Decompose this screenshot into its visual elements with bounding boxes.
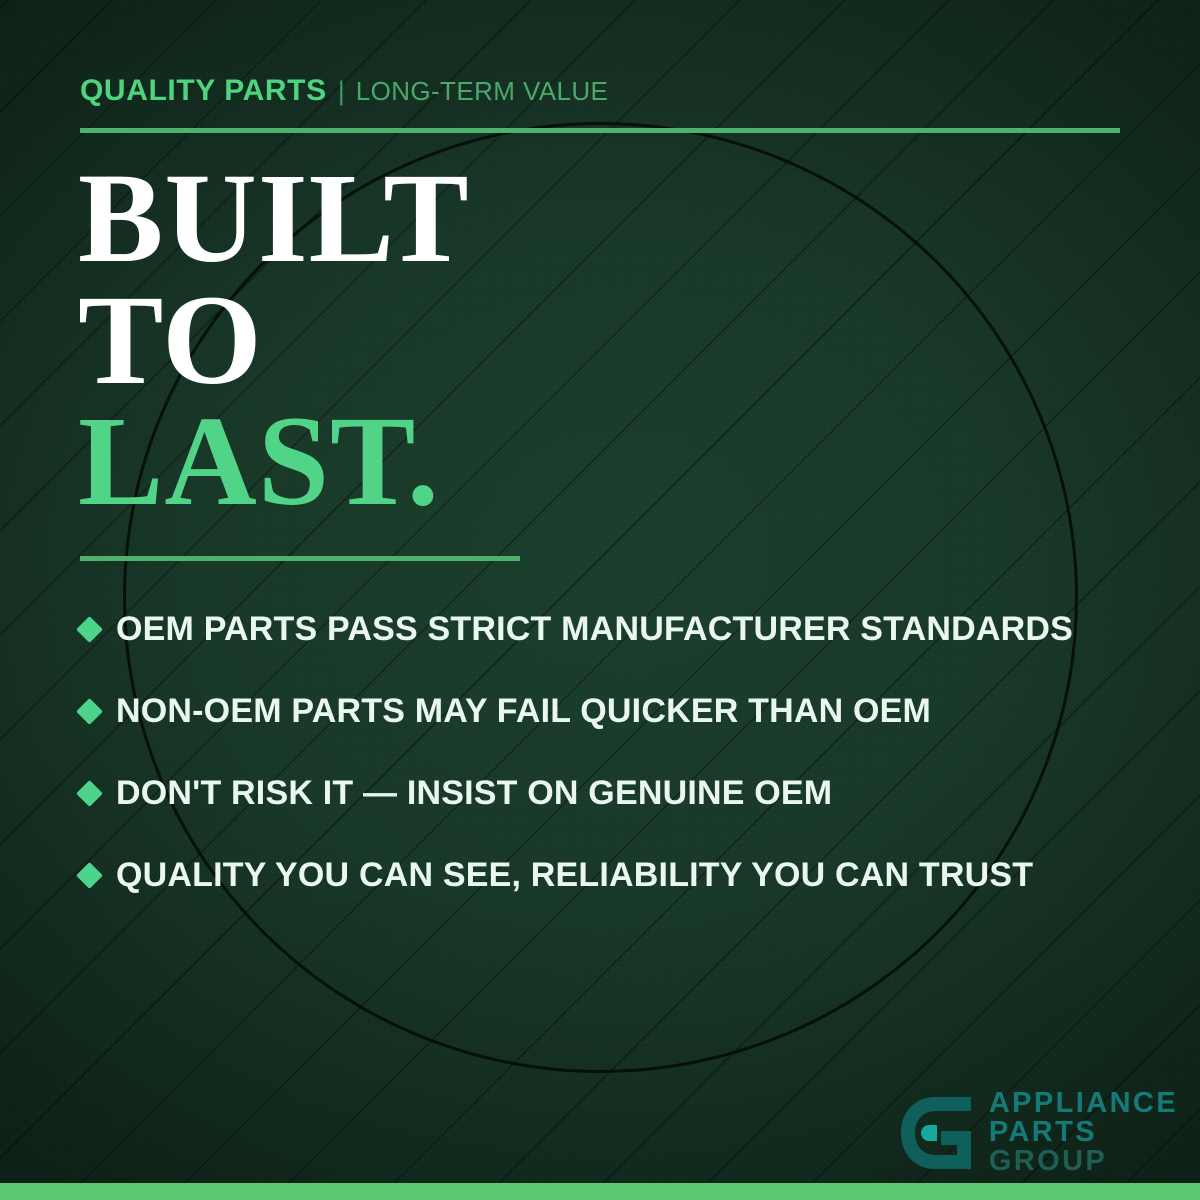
header-divider-rule [80,128,1120,133]
brand-logo-line-3: GROUP [989,1147,1178,1176]
eyebrow-sub-label: LONG-TERM VALUE [356,78,609,104]
brand-logo-wordmark: APPLIANCE PARTS GROUP [989,1089,1178,1176]
diamond-bullet-icon [76,862,103,889]
eyebrow-main-label: QUALITY PARTS [80,76,327,106]
list-item: NON-OEM PARTS MAY FAIL QUICKER THAN OEM [80,670,1140,752]
diamond-bullet-icon [76,698,103,725]
list-item-label: OEM PARTS PASS STRICT MANUFACTURER STAND… [116,612,1073,646]
poster-content: QUALITY PARTS | LONG-TERM VALUE BUILT TO… [0,0,1200,1200]
benefit-list: OEM PARTS PASS STRICT MANUFACTURER STAND… [80,588,1140,916]
headline-divider-rule [80,556,520,561]
list-item: DON'T RISK IT — INSIST ON GENUINE OEM [80,752,1140,834]
list-item-label: DON'T RISK IT — INSIST ON GENUINE OEM [116,776,832,810]
brand-logo: APPLIANCE PARTS GROUP [895,1089,1178,1176]
page-title: BUILT TO LAST. [78,158,470,523]
list-item-label: QUALITY YOU CAN SEE, RELIABILITY YOU CAN… [116,858,1033,892]
headline-line-2: TO [78,280,470,402]
appliance-parts-group-g-monogram-icon [895,1093,977,1173]
headline-line-3: LAST. [78,401,470,523]
eyebrow-separator: | [338,78,345,105]
headline-line-1: BUILT [78,158,470,280]
list-item: QUALITY YOU CAN SEE, RELIABILITY YOU CAN… [80,834,1140,916]
eyebrow-header: QUALITY PARTS | LONG-TERM VALUE [80,76,608,106]
diamond-bullet-icon [76,780,103,807]
poster-canvas: QUALITY PARTS | LONG-TERM VALUE BUILT TO… [0,0,1200,1200]
list-item: OEM PARTS PASS STRICT MANUFACTURER STAND… [80,588,1140,670]
bottom-accent-bar [0,1183,1200,1200]
list-item-label: NON-OEM PARTS MAY FAIL QUICKER THAN OEM [116,694,931,728]
brand-logo-line-2: PARTS [989,1118,1178,1147]
brand-logo-line-1: APPLIANCE [989,1089,1178,1118]
diamond-bullet-icon [76,616,103,643]
